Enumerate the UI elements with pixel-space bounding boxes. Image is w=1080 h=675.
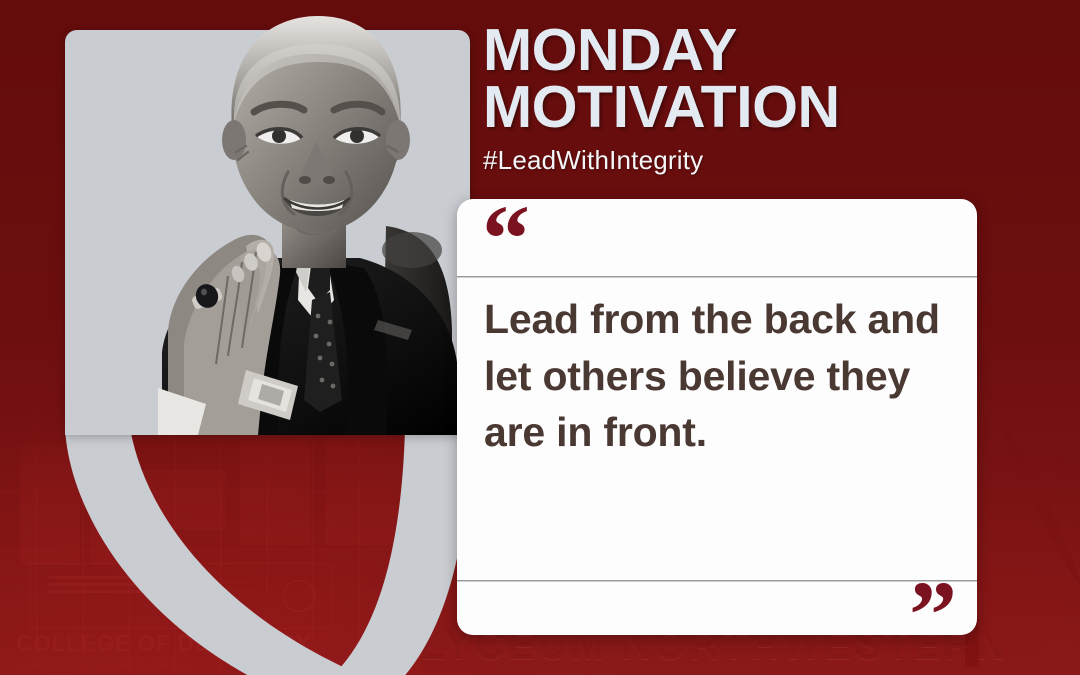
open-quote-icon: “ [482, 199, 528, 287]
background-badge [30, 563, 332, 629]
background-badge-lines [47, 576, 207, 597]
quote-text: Lead from the back and let others believ… [484, 291, 954, 461]
background-bar-left [388, 615, 402, 667]
close-quote-icon: ” [909, 567, 955, 635]
page-title: MONDAY MOTIVATION [483, 22, 1043, 135]
portrait-image [150, 0, 470, 435]
title-line-2: MOTIVATION [483, 79, 1043, 136]
quote-divider-top [457, 276, 977, 278]
quote-card: “ Lead from the back and let others beli… [457, 199, 977, 635]
header-block: MONDAY MOTIVATION #LeadWithIntegrity [483, 22, 1043, 176]
background-college-sublabel: LYCEUM NORTHWESTERN UNIVERSITY [18, 660, 190, 669]
hashtag-label: #LeadWithIntegrity [483, 145, 1043, 176]
background-badge-circle [283, 580, 315, 612]
poster-canvas: COLLEGE OF DENTISTRY LYCEUM NORTHWESTERN… [0, 0, 1080, 675]
background-college-label: COLLEGE OF DENTISTRY [16, 630, 311, 657]
quote-divider-bottom [457, 580, 977, 582]
title-line-1: MONDAY [483, 22, 1043, 79]
